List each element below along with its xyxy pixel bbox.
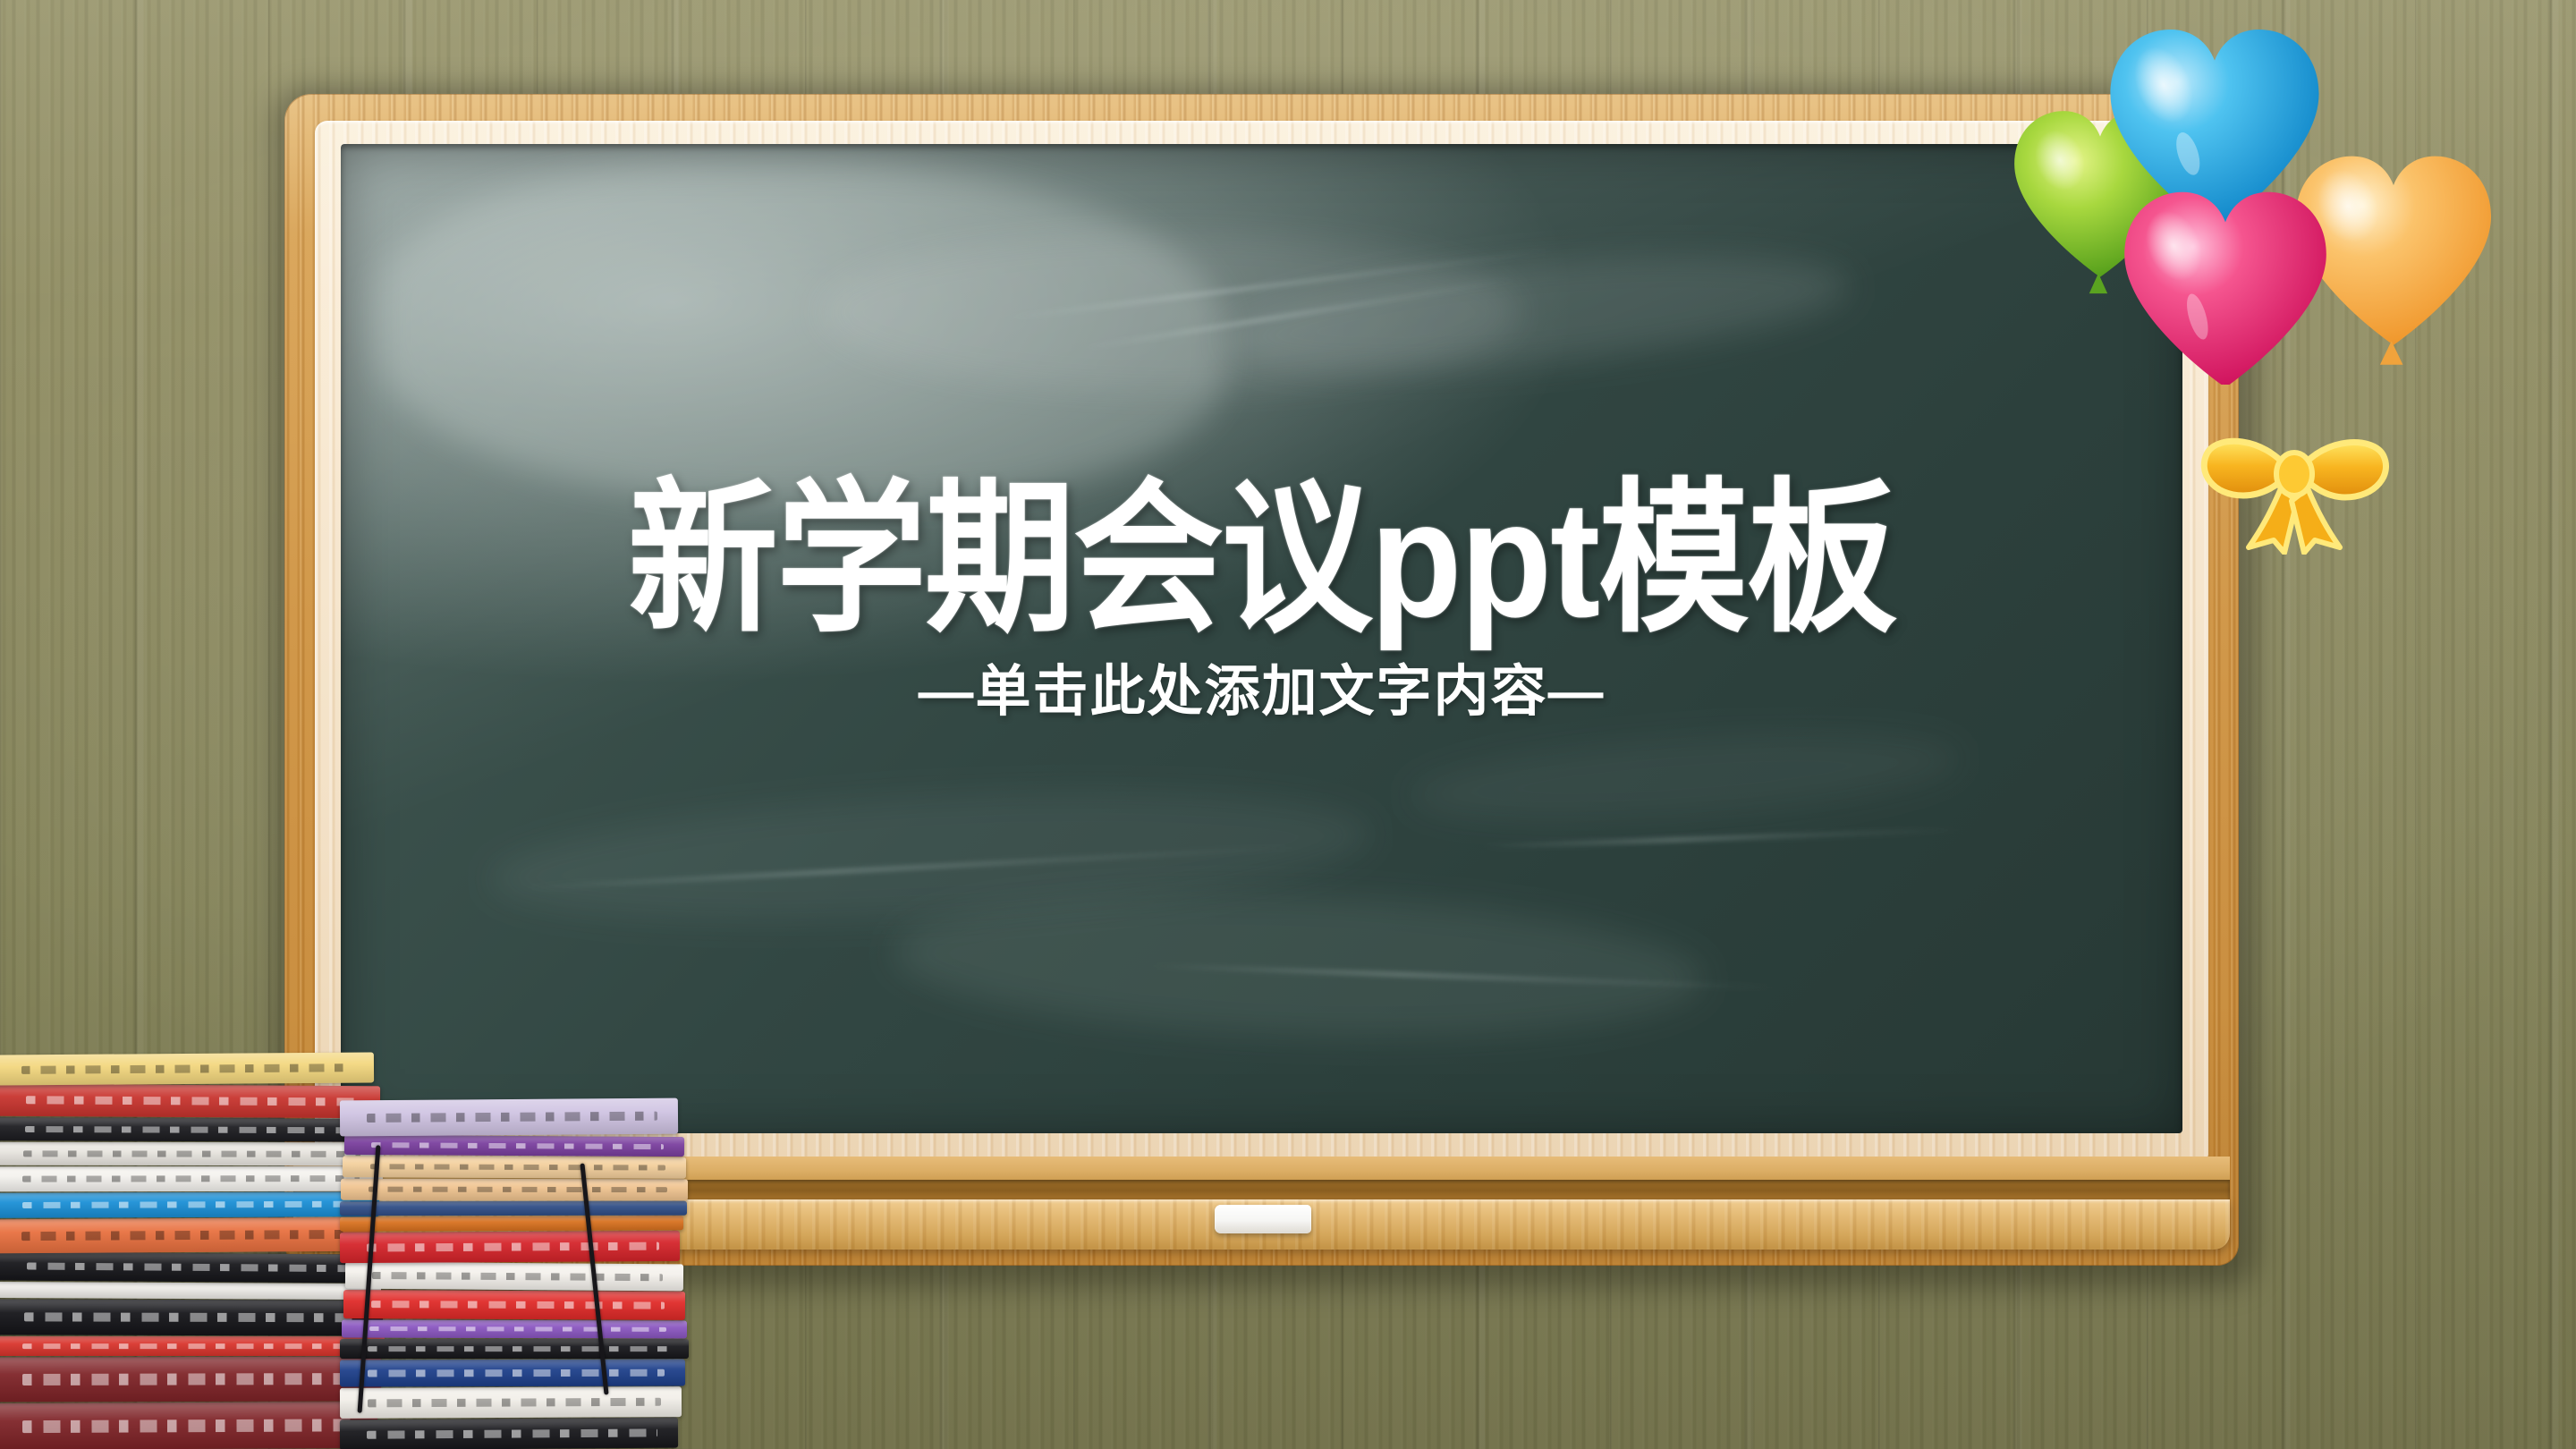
book	[340, 1201, 687, 1216]
chalk-smudge	[377, 164, 1224, 500]
chalk-streak	[1151, 964, 1777, 989]
book-spine-text	[22, 1343, 360, 1349]
book-sheen	[0, 1282, 381, 1300]
book-spine-text	[369, 1326, 666, 1332]
book	[342, 1320, 687, 1339]
book	[0, 1117, 382, 1142]
book-stack-left	[0, 1053, 385, 1449]
book-spine-text	[22, 1373, 358, 1385]
ribbon-bow-icon	[2191, 402, 2397, 555]
chalk-smudge	[891, 882, 1706, 1048]
book	[0, 1191, 379, 1218]
book	[0, 1282, 381, 1300]
book-stacks	[0, 859, 707, 1449]
heart-balloons-group	[2004, 9, 2558, 385]
chalk-stick[interactable]	[1215, 1205, 1311, 1233]
book	[0, 1084, 380, 1119]
book	[340, 1418, 678, 1449]
presentation-slide: 新学期会议ppt模板 —单击此处添加文字内容—	[0, 0, 2576, 1449]
ribbon-bow	[2191, 402, 2397, 555]
book-spine-text	[369, 1187, 667, 1193]
chalk-streak	[1080, 277, 1517, 350]
slide-title[interactable]: 新学期会议ppt模板	[341, 477, 2182, 642]
book	[344, 1135, 684, 1157]
book-spine-text	[368, 1398, 662, 1407]
book	[0, 1142, 384, 1166]
book	[0, 1052, 374, 1085]
book	[345, 1262, 683, 1292]
book	[340, 1231, 680, 1263]
book	[0, 1217, 376, 1254]
book-spine-text	[23, 1150, 360, 1157]
book-spine-text	[22, 1419, 355, 1432]
book	[343, 1290, 685, 1320]
chalk-smudge	[1407, 718, 1963, 835]
book-spine-text	[368, 1369, 665, 1377]
book	[343, 1156, 686, 1178]
book-spine-text	[368, 1346, 667, 1352]
book-spine-text	[24, 1312, 360, 1322]
book-stack-right	[340, 1098, 689, 1449]
book	[340, 1360, 685, 1387]
book-spine-text	[22, 1175, 360, 1182]
book	[0, 1356, 381, 1402]
slide-subtitle[interactable]: —单击此处添加文字内容—	[341, 665, 2182, 720]
book	[0, 1166, 383, 1192]
book-sheen	[340, 1201, 687, 1216]
book-spine-text	[25, 1126, 359, 1133]
chalk-streak	[1483, 828, 1962, 849]
book	[0, 1402, 377, 1449]
book	[340, 1098, 678, 1137]
book	[340, 1339, 689, 1359]
chalk-smudge	[819, 233, 1519, 392]
book	[341, 1179, 688, 1200]
slide-text-block: 新学期会议ppt模板 —单击此处添加文字内容—	[341, 484, 2182, 720]
book-sheen	[340, 1216, 683, 1231]
book	[340, 1216, 683, 1231]
book	[0, 1299, 383, 1335]
book	[340, 1386, 682, 1419]
book	[0, 1251, 379, 1283]
heart-balloons-svg	[2004, 9, 2558, 385]
book	[0, 1336, 385, 1356]
